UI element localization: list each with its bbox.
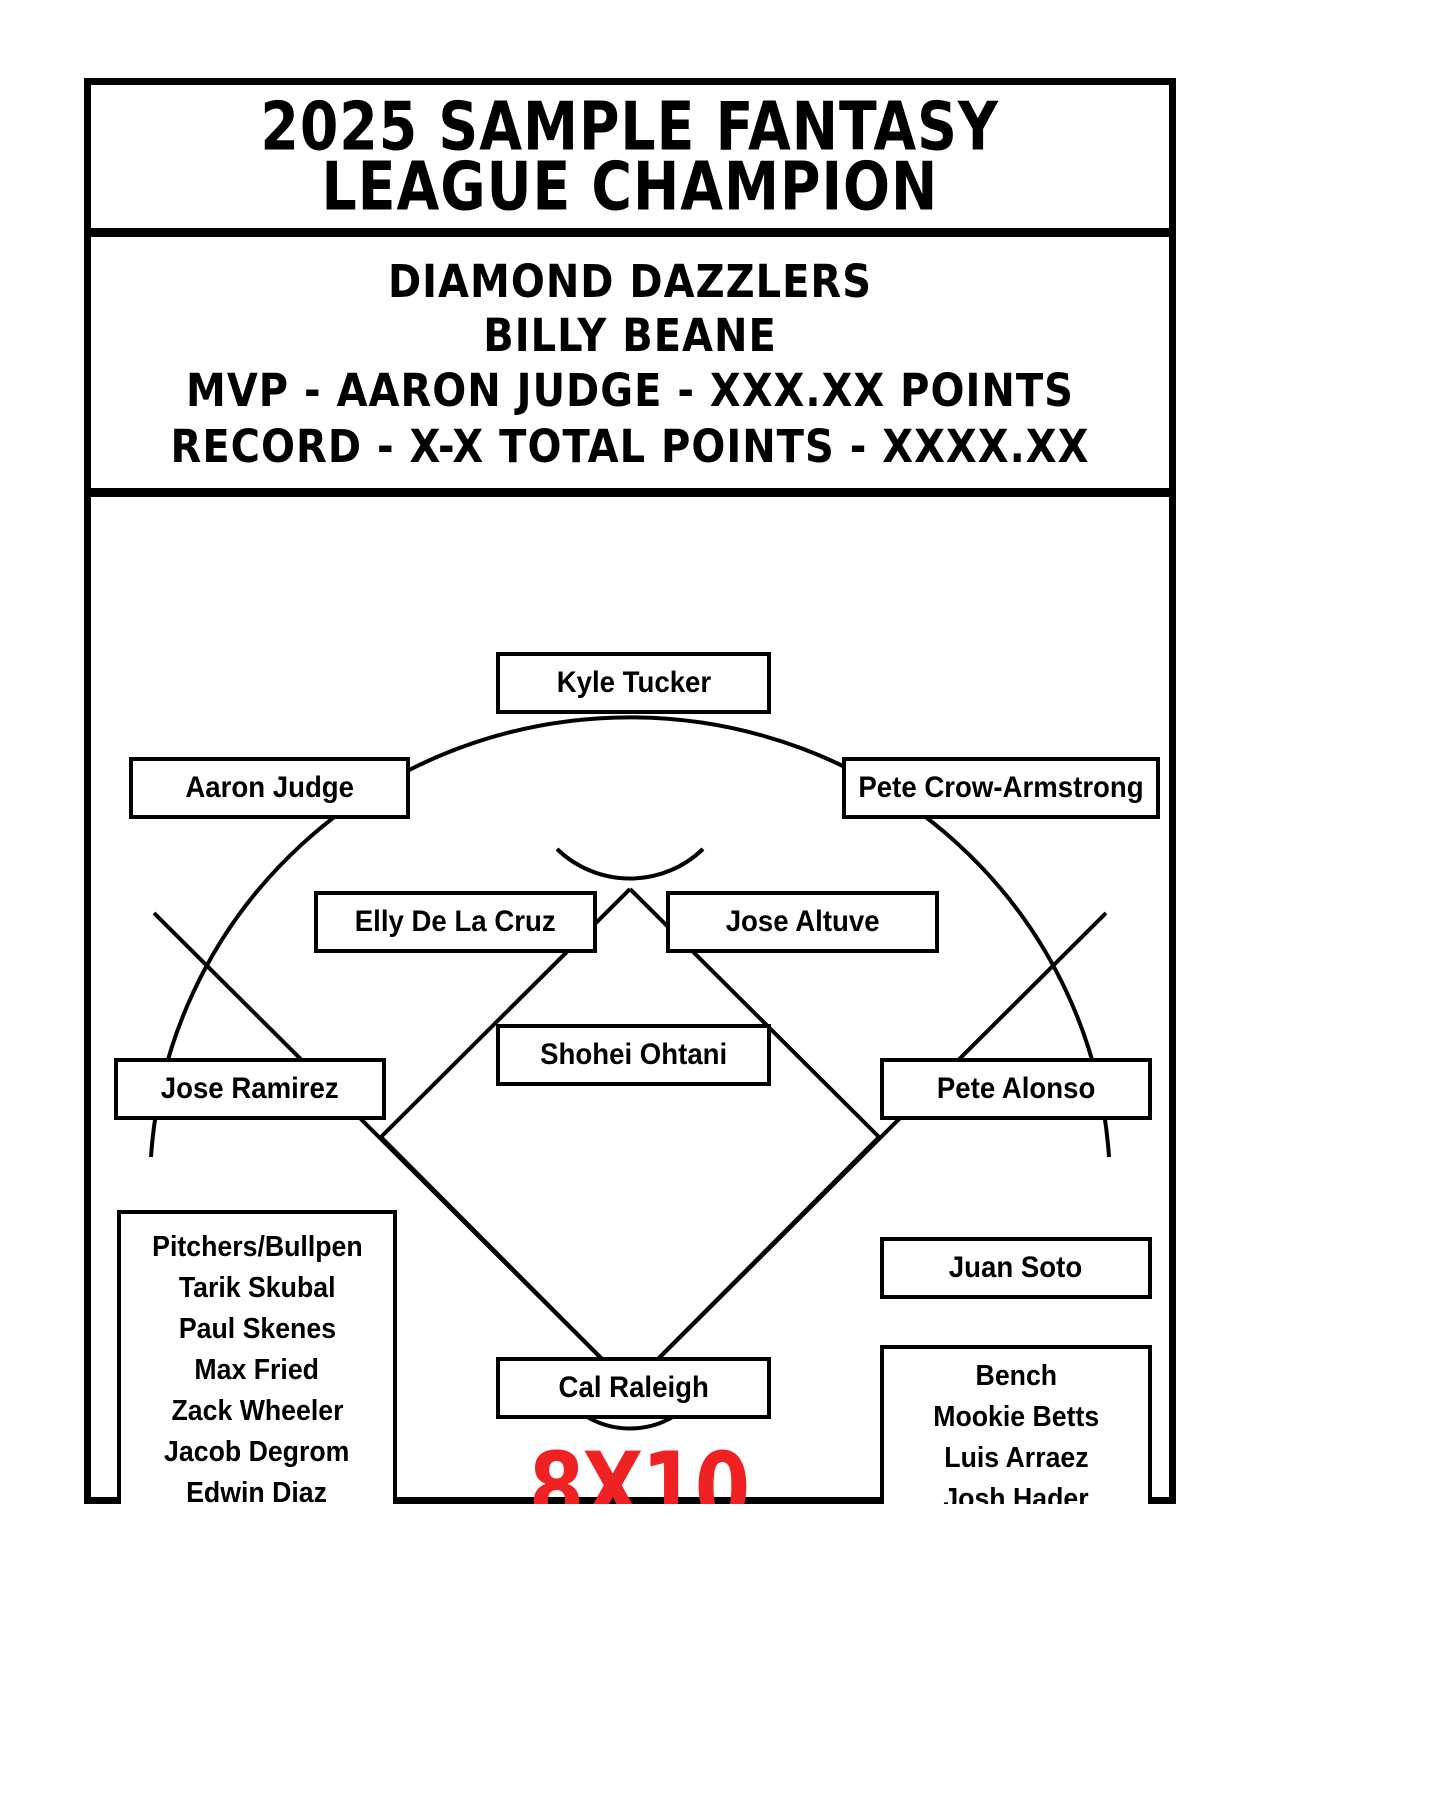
poster-page: 2025 SAMPLE FANTASY LEAGUE CHAMPION DIAM… <box>0 0 1445 1806</box>
player-name-right-field: Pete Crow-Armstrong <box>858 771 1143 805</box>
position-box-first-base[interactable]: Pete Alonso <box>880 1058 1152 1120</box>
title-line-2: LEAGUE CHAMPION <box>322 151 939 222</box>
owner-name: BILLY BEANE <box>483 305 777 367</box>
team-name: DIAMOND DAZZLERS <box>388 251 872 313</box>
pitchers-list-item: Edwin Diaz <box>187 1473 328 1504</box>
position-box-left-field[interactable]: Aaron Judge <box>129 757 410 819</box>
position-box-center-field[interactable]: Kyle Tucker <box>496 652 771 714</box>
bench-box-header: Bench <box>975 1356 1057 1397</box>
player-name-second-base: Jose Altuve <box>726 905 880 939</box>
record-line: RECORD - X-X TOTAL POINTS - XXXX.XX <box>171 415 1090 479</box>
mvp-line: MVP - AARON JUDGE - XXX.XX POINTS <box>186 359 1074 423</box>
pitchers-box-header: Pitchers/Bullpen <box>152 1227 363 1268</box>
player-name-first-base: Pete Alonso <box>937 1072 1095 1106</box>
pitchers-list-item: Zack Wheeler <box>171 1391 343 1432</box>
bench-list-item: Josh Hader <box>943 1479 1088 1504</box>
baseball-field: Kyle Tucker Aaron Judge Pete Crow-Armstr… <box>91 497 1169 1504</box>
bench-box[interactable]: Bench Mookie Betts Luis Arraez Josh Hade… <box>880 1345 1152 1504</box>
pitchers-list-item: Paul Skenes <box>178 1309 335 1350</box>
player-name-designated-hitter: Juan Soto <box>949 1251 1082 1285</box>
baseline-first-to-home <box>630 1137 879 1387</box>
position-box-right-field[interactable]: Pete Crow-Armstrong <box>842 757 1160 819</box>
poster-frame: 2025 SAMPLE FANTASY LEAGUE CHAMPION DIAM… <box>84 78 1176 1504</box>
info-band: DIAMOND DAZZLERS BILLY BEANE MVP - AARON… <box>91 237 1169 497</box>
title-band: 2025 SAMPLE FANTASY LEAGUE CHAMPION <box>91 85 1169 237</box>
position-box-catcher[interactable]: Cal Raleigh <box>496 1357 771 1419</box>
pitchers-bullpen-box[interactable]: Pitchers/Bullpen Tarik Skubal Paul Skene… <box>117 1210 397 1504</box>
player-name-center-field: Kyle Tucker <box>556 666 710 700</box>
pitchers-list-item: Tarik Skubal <box>179 1268 336 1309</box>
bench-list-item: Luis Arraez <box>944 1438 1088 1479</box>
position-box-pitcher[interactable]: Shohei Ohtani <box>496 1024 771 1086</box>
player-name-catcher: Cal Raleigh <box>558 1371 708 1405</box>
position-box-third-base[interactable]: Jose Ramirez <box>114 1058 386 1120</box>
player-name-third-base: Jose Ramirez <box>161 1072 339 1106</box>
position-box-shortstop[interactable]: Elly De La Cruz <box>314 891 597 953</box>
position-box-designated-hitter[interactable]: Juan Soto <box>880 1237 1152 1299</box>
player-name-pitcher: Shohei Ohtani <box>540 1038 727 1072</box>
size-watermark: 8X10 <box>529 1440 748 1504</box>
pitchers-list-item: Max Fried <box>195 1350 320 1391</box>
player-name-shortstop: Elly De La Cruz <box>355 905 556 939</box>
pitchers-list-item: Jacob Degrom <box>164 1432 349 1473</box>
position-box-second-base[interactable]: Jose Altuve <box>666 891 939 953</box>
bench-list-item: Mookie Betts <box>933 1397 1099 1438</box>
player-name-left-field: Aaron Judge <box>185 771 354 805</box>
infield-dirt-arc <box>557 849 703 879</box>
baseline-home-to-third <box>381 1137 630 1387</box>
